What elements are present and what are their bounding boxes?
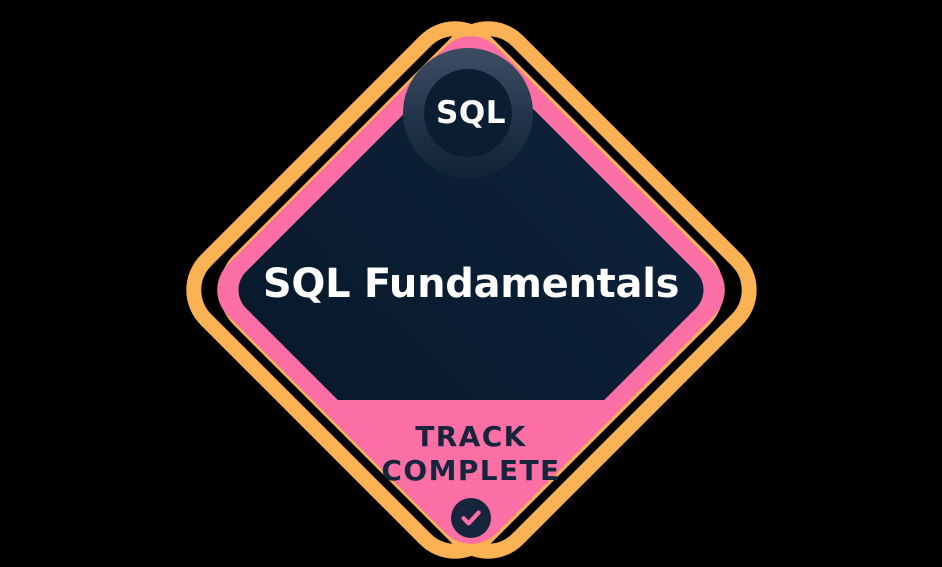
track-completion-badge: SQL SQL Fundamentals TRACK COMPLETE: [0, 0, 942, 567]
badge-graphic: [0, 0, 942, 567]
sql-chip-face: [424, 69, 512, 157]
